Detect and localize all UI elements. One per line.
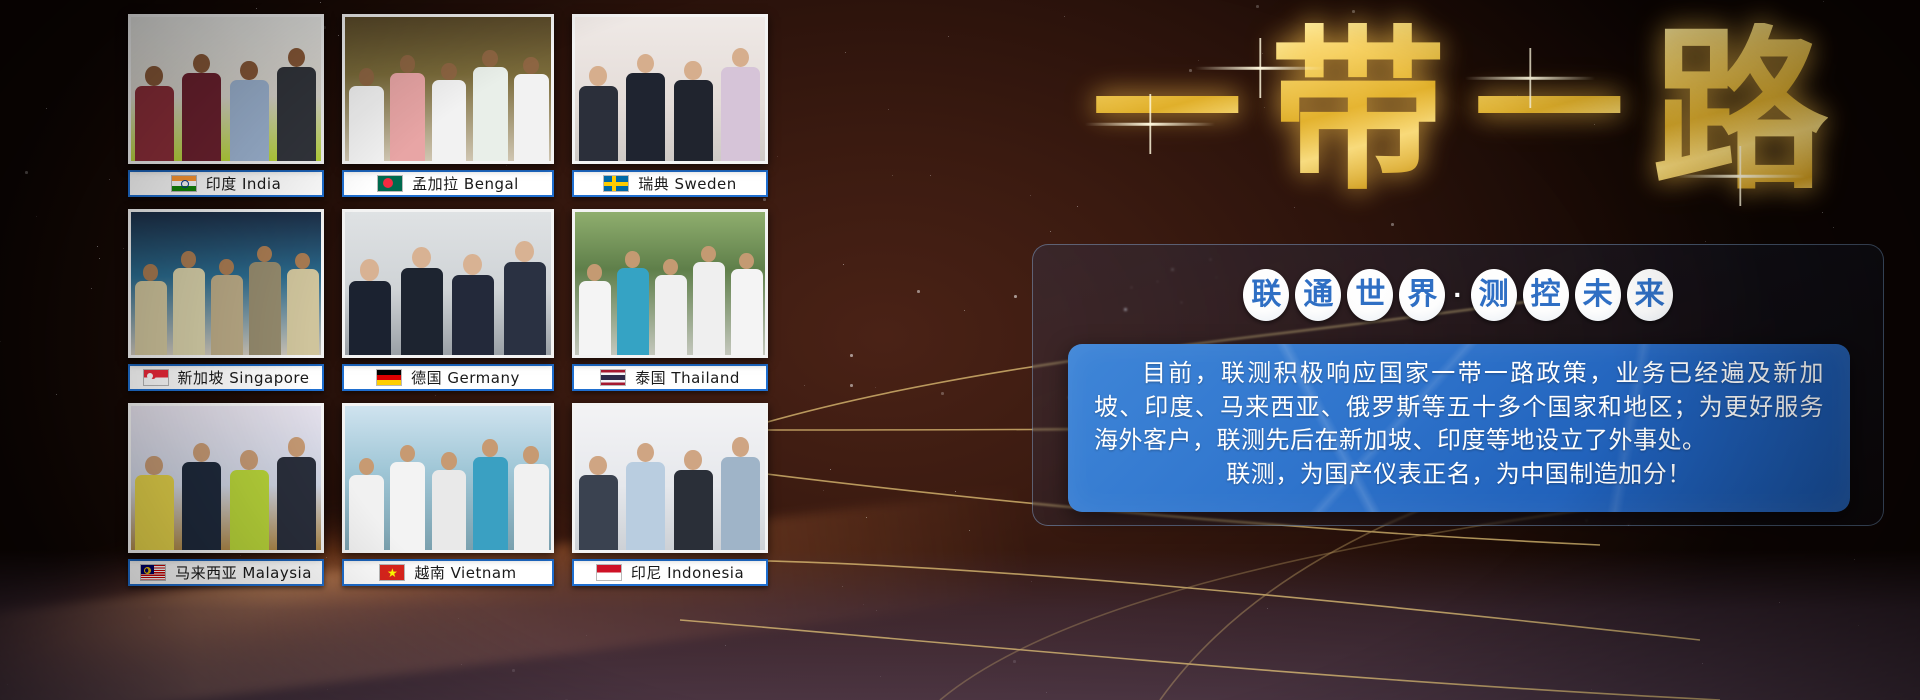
photo-person bbox=[390, 73, 425, 161]
star-dot bbox=[1705, 241, 1706, 242]
tagline-char: 测 bbox=[1471, 269, 1517, 321]
star-dot bbox=[327, 689, 328, 690]
country-label-text: 越南 Vietnam bbox=[414, 562, 516, 583]
star-dot bbox=[1858, 625, 1859, 626]
star-dot bbox=[850, 354, 853, 357]
photo-person bbox=[135, 281, 167, 356]
about-paragraph-slogan: 联测，为国产仪表正名，为中国制造加分！ bbox=[1094, 458, 1824, 492]
photo-person bbox=[173, 268, 205, 356]
photo-person-head bbox=[181, 251, 195, 267]
photo-person bbox=[579, 86, 618, 161]
star-dot bbox=[56, 394, 57, 395]
tagline-char: 未 bbox=[1575, 269, 1621, 321]
country-label: 印尼 Indonesia bbox=[572, 559, 768, 586]
star-dot bbox=[7, 684, 8, 685]
calligraphy-char-2: 带 bbox=[1270, 23, 1446, 199]
country-card[interactable]: 德国 Germany bbox=[342, 209, 554, 392]
star-dot bbox=[880, 676, 881, 677]
photo-person-head bbox=[684, 61, 701, 81]
photo-person-head bbox=[523, 446, 539, 464]
photo-person-head bbox=[295, 253, 309, 269]
photo-person bbox=[349, 281, 391, 356]
country-label: 印度 India bbox=[128, 170, 324, 197]
photo-person bbox=[452, 275, 494, 355]
flag-malaysia-icon bbox=[140, 564, 166, 581]
star-dot bbox=[46, 108, 47, 109]
country-photo[interactable] bbox=[342, 403, 554, 553]
country-photo[interactable] bbox=[128, 403, 324, 553]
star-dot bbox=[875, 387, 876, 388]
star-dot bbox=[876, 610, 877, 611]
photo-person bbox=[626, 73, 665, 161]
star-dot bbox=[866, 517, 867, 518]
photo-person bbox=[135, 86, 174, 161]
about-text-box: 目前，联测积极响应国家一带一路政策，业务已经遍及新加坡、印度、马来西亚、俄罗斯等… bbox=[1068, 344, 1850, 512]
star-dot bbox=[512, 669, 515, 672]
star-dot bbox=[1591, 689, 1592, 690]
star-dot bbox=[955, 491, 956, 492]
photo-person bbox=[135, 475, 174, 550]
star-dot bbox=[842, 586, 843, 587]
star-dot bbox=[586, 635, 587, 636]
photo-person-head bbox=[412, 247, 431, 268]
country-card[interactable]: 瑞典 Sweden bbox=[572, 14, 768, 197]
country-card[interactable]: 孟加拉 Bengal bbox=[342, 14, 554, 197]
photo-person-head bbox=[589, 66, 606, 86]
star-dot bbox=[1050, 231, 1051, 232]
star-dot bbox=[930, 175, 931, 176]
photo-person bbox=[287, 269, 319, 355]
photo-person-head bbox=[240, 450, 257, 470]
country-photo[interactable] bbox=[128, 14, 324, 164]
star-dot bbox=[1046, 692, 1047, 693]
photo-person bbox=[579, 281, 611, 356]
photo-person bbox=[693, 262, 725, 355]
photo-person-head bbox=[193, 54, 210, 74]
tagline-char: 通 bbox=[1295, 269, 1341, 321]
photo-person-head bbox=[145, 66, 162, 86]
photo-person bbox=[721, 67, 760, 160]
photo-person-head bbox=[587, 264, 601, 280]
star-dot bbox=[109, 179, 110, 180]
photo-person-head bbox=[359, 68, 375, 86]
photo-person bbox=[674, 80, 713, 160]
country-label: 越南 Vietnam bbox=[342, 559, 554, 586]
tagline-char: 联 bbox=[1243, 269, 1289, 321]
country-card[interactable]: 印度 India bbox=[128, 14, 324, 197]
star-dot bbox=[97, 246, 98, 247]
star-dot bbox=[941, 392, 944, 395]
star-dot bbox=[917, 290, 920, 293]
star-dot bbox=[964, 310, 965, 311]
country-label: 瑞典 Sweden bbox=[572, 170, 768, 197]
country-label-text: 泰国 Thailand bbox=[635, 367, 740, 388]
country-photo[interactable] bbox=[572, 14, 768, 164]
flag-germany-icon bbox=[376, 369, 402, 386]
photo-person bbox=[721, 457, 760, 550]
photo-person-head bbox=[219, 259, 233, 275]
star-dot bbox=[25, 171, 28, 174]
photo-person-head bbox=[515, 241, 534, 262]
flag-thailand-icon bbox=[600, 369, 626, 386]
photo-person-head bbox=[482, 50, 498, 68]
photo-person-head bbox=[732, 437, 749, 457]
photo-person-head bbox=[589, 456, 606, 476]
country-photo-grid: 印度 India孟加拉 Bengal瑞典 Sweden新加坡 Singapore… bbox=[128, 14, 768, 586]
star-dot bbox=[804, 385, 805, 386]
photo-person bbox=[249, 262, 281, 355]
country-label-text: 印度 India bbox=[206, 173, 282, 194]
country-label: 德国 Germany bbox=[342, 364, 554, 391]
country-photo[interactable] bbox=[572, 209, 768, 359]
country-photo[interactable] bbox=[572, 403, 768, 553]
photo-person bbox=[514, 464, 549, 550]
star-dot bbox=[843, 264, 844, 265]
country-label: 新加坡 Singapore bbox=[128, 364, 324, 391]
photo-person-head bbox=[482, 439, 498, 457]
photo-person-head bbox=[637, 54, 654, 74]
photo-person bbox=[432, 80, 467, 160]
star-dot bbox=[948, 36, 949, 37]
flag-vietnam-icon bbox=[379, 564, 405, 581]
banner-stage: 印度 India孟加拉 Bengal瑞典 Sweden新加坡 Singapore… bbox=[0, 0, 1920, 700]
photo-person bbox=[230, 80, 269, 160]
star-dot bbox=[1779, 602, 1780, 603]
country-photo[interactable] bbox=[128, 209, 324, 359]
photo-person bbox=[349, 475, 384, 550]
tagline-separator: · bbox=[1451, 279, 1464, 311]
photo-person-head bbox=[257, 246, 271, 262]
star-dot bbox=[1267, 608, 1268, 609]
star-dot bbox=[1702, 663, 1703, 664]
flag-india-icon bbox=[171, 175, 197, 192]
country-label: 孟加拉 Bengal bbox=[342, 170, 554, 197]
star-dot bbox=[850, 384, 853, 387]
star-dot bbox=[1013, 660, 1016, 663]
photo-person bbox=[617, 268, 649, 356]
flag-sweden-icon bbox=[603, 175, 629, 192]
star-dot bbox=[1833, 227, 1834, 228]
photo-person bbox=[626, 462, 665, 550]
photo-person-head bbox=[684, 450, 701, 470]
photo-person bbox=[731, 269, 763, 355]
star-dot bbox=[461, 664, 462, 665]
photo-person bbox=[514, 74, 549, 160]
photo-person bbox=[182, 462, 221, 550]
country-label: 马来西亚 Malaysia bbox=[128, 559, 324, 586]
country-label-text: 德国 Germany bbox=[411, 367, 520, 388]
star-dot bbox=[863, 604, 864, 605]
star-dot bbox=[1391, 223, 1394, 226]
photo-person-head bbox=[240, 61, 257, 81]
tagline-char: 控 bbox=[1523, 269, 1569, 321]
photo-person bbox=[579, 475, 618, 550]
photo-person bbox=[401, 268, 443, 356]
photo-person bbox=[277, 457, 316, 550]
tagline-char: 世 bbox=[1347, 269, 1393, 321]
star-dot bbox=[256, 8, 257, 9]
star-dot bbox=[148, 616, 151, 619]
country-card[interactable]: 泰国 Thailand bbox=[572, 209, 768, 392]
star-dot bbox=[892, 175, 893, 176]
tagline-char: 界 bbox=[1399, 269, 1445, 321]
star-dot bbox=[1031, 581, 1032, 582]
star-dot bbox=[1854, 559, 1855, 560]
photo-person-head bbox=[288, 437, 305, 457]
photo-person bbox=[349, 86, 384, 161]
photo-person bbox=[211, 275, 243, 355]
country-card[interactable]: 马来西亚 Malaysia bbox=[128, 403, 324, 586]
star-dot bbox=[1014, 295, 1017, 298]
country-card[interactable]: 越南 Vietnam bbox=[342, 403, 554, 586]
star-dot bbox=[320, 2, 321, 3]
photo-person bbox=[504, 262, 546, 355]
country-label-text: 孟加拉 Bengal bbox=[412, 173, 519, 194]
country-label-text: 印尼 Indonesia bbox=[631, 562, 744, 583]
calligraphy-char-4: 路 bbox=[1652, 23, 1828, 199]
photo-person bbox=[674, 470, 713, 550]
star-dot bbox=[777, 156, 778, 157]
flag-indonesia-icon bbox=[596, 564, 622, 581]
country-card[interactable]: 新加坡 Singapore bbox=[128, 209, 324, 392]
photo-person-head bbox=[360, 259, 379, 280]
star-dot bbox=[725, 645, 726, 646]
star-dot bbox=[1823, 1, 1824, 2]
photo-person bbox=[277, 67, 316, 160]
country-label-text: 新加坡 Singapore bbox=[178, 367, 310, 388]
photo-person-head bbox=[143, 264, 157, 280]
country-photo[interactable] bbox=[342, 209, 554, 359]
photo-person-head bbox=[625, 251, 639, 267]
about-paragraph-main: 目前，联测积极响应国家一带一路政策，业务已经遍及新加坡、印度、马来西亚、俄罗斯等… bbox=[1094, 357, 1824, 458]
country-label: 泰国 Thailand bbox=[572, 364, 768, 391]
photo-person-head bbox=[701, 246, 715, 262]
star-dot bbox=[0, 341, 1, 342]
photo-person-head bbox=[441, 452, 457, 470]
photo-person bbox=[473, 457, 508, 550]
star-dot bbox=[91, 288, 92, 289]
calligraphy-char-3: 一 bbox=[1474, 36, 1624, 186]
photo-person-head bbox=[441, 63, 457, 81]
company-tagline: 联通世界·测控未来 bbox=[1032, 258, 1884, 332]
photo-person bbox=[432, 470, 467, 550]
photo-person bbox=[182, 73, 221, 161]
photo-person-head bbox=[739, 253, 753, 269]
flag-singapore-icon bbox=[143, 369, 169, 386]
belt-and-road-calligraphy: 一 带 一 路 bbox=[1020, 6, 1900, 216]
star-dot bbox=[830, 469, 831, 470]
star-dot bbox=[823, 490, 824, 491]
country-label-text: 马来西亚 Malaysia bbox=[175, 562, 312, 583]
photo-person-head bbox=[663, 259, 677, 275]
photo-person-head bbox=[145, 456, 162, 476]
star-dot bbox=[123, 248, 124, 249]
country-label-text: 瑞典 Sweden bbox=[638, 173, 737, 194]
star-dot bbox=[458, 618, 459, 619]
star-dot bbox=[36, 216, 37, 217]
star-dot bbox=[845, 52, 846, 53]
photo-person bbox=[473, 67, 508, 160]
tagline-char: 来 bbox=[1627, 269, 1673, 321]
flag-bangladesh-icon bbox=[377, 175, 403, 192]
star-dot bbox=[969, 530, 970, 531]
photo-person bbox=[390, 462, 425, 550]
star-dot bbox=[888, 109, 889, 110]
star-dot bbox=[99, 258, 100, 259]
country-card[interactable]: 印尼 Indonesia bbox=[572, 403, 768, 586]
photo-person bbox=[230, 470, 269, 550]
country-photo[interactable] bbox=[342, 14, 554, 164]
calligraphy-char-1: 一 bbox=[1092, 36, 1242, 186]
photo-person bbox=[655, 275, 687, 355]
